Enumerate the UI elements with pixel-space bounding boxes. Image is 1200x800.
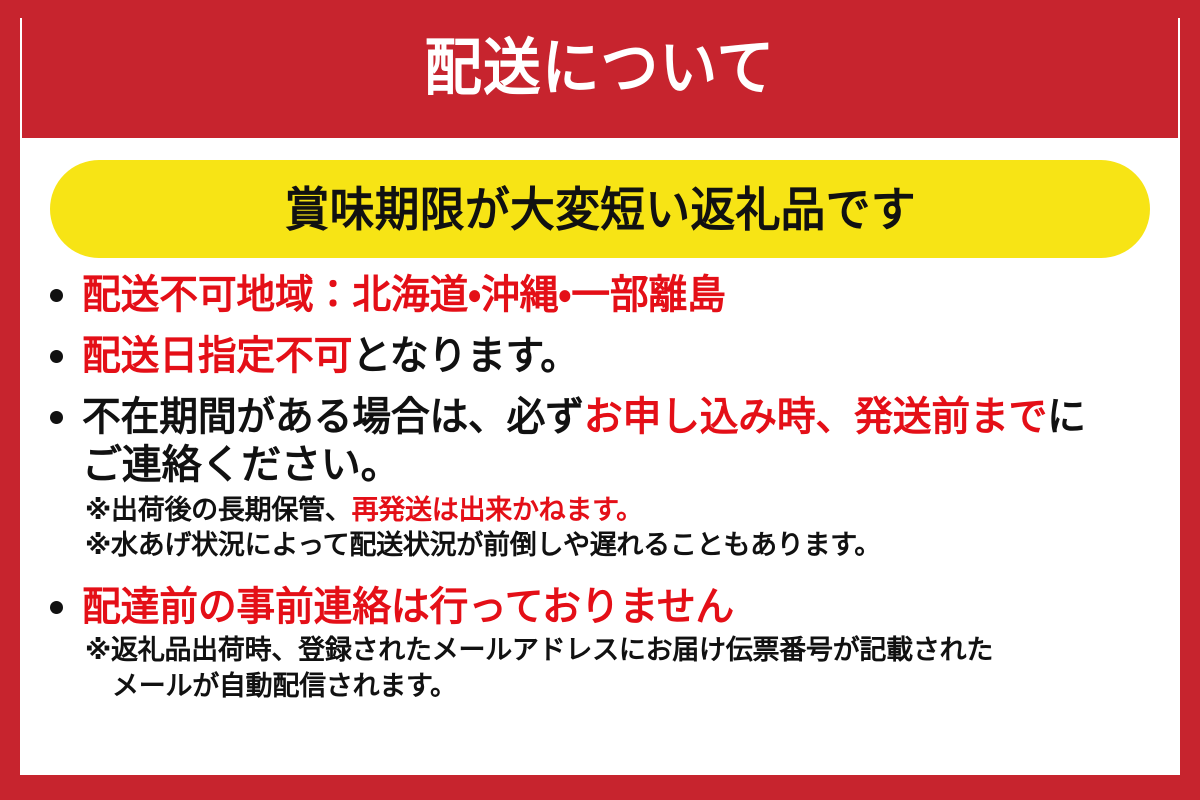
list-item: 配送日指定不可となります。 bbox=[38, 333, 1162, 380]
notice-plain-text: ご連絡ください。 bbox=[82, 443, 400, 487]
bullet-dot-icon bbox=[50, 411, 63, 424]
notice-text-absence-period-contact: 不在期間がある場合は、必ずお申し込み時、発送前までに bbox=[82, 394, 1130, 441]
notice-plain-text-lead: 不在期間がある場合は、必ず bbox=[82, 395, 584, 439]
subnote: ※返礼品出荷時、登録されたメールアドレスにお届け伝票番号が記載された bbox=[85, 633, 1162, 669]
list-item: 配達前の事前連絡は行っておりません ※返礼品出荷時、登録されたメールアドレスにお… bbox=[38, 584, 1162, 704]
notice-text-no-advance-notice: 配達前の事前連絡は行っておりません bbox=[82, 584, 1130, 631]
notice-text-no-date-designation: 配送日指定不可となります。 bbox=[82, 333, 1130, 380]
subnote-plain-text: メールが自動配信されます。 bbox=[112, 671, 457, 701]
spacer bbox=[38, 566, 1162, 584]
list-item: 不在期間がある場合は、必ずお申し込み時、発送前までに ご連絡ください。 ※出荷後… bbox=[38, 394, 1162, 564]
subnote: ※水あげ状況によって配送状況が前倒しや遅れることもあります。 bbox=[85, 528, 1162, 564]
header-rule-right bbox=[1178, 18, 1180, 138]
notice-plain-text-tail: に bbox=[1047, 395, 1086, 439]
notice-plain-text: となります。 bbox=[352, 334, 579, 378]
subnote: ※出荷後の長期保管、再発送は出来かねます。 bbox=[85, 493, 1162, 529]
notice-list: 配送不可地域：北海道・沖縄・一部離島 配送日指定不可となります。 不在期間がある… bbox=[20, 258, 1180, 704]
subnote-emphasis-red: 再発送は出来かねます。 bbox=[352, 495, 643, 525]
subnote-plain-text: ※水あげ状況によって配送状況が前倒しや遅れることもあります。 bbox=[85, 530, 881, 560]
subnote-plain-text: ※返礼品出荷時、登録されたメールアドレスにお届け伝票番号が記載された bbox=[85, 635, 993, 665]
subnote: メールが自動配信されます。 bbox=[85, 669, 1162, 705]
notice-text-absence-period-contact-line2: ご連絡ください。 bbox=[82, 442, 1162, 489]
notice-emphasis-red: 配送日指定不可 bbox=[82, 334, 352, 378]
notice-emphasis-red: お申し込み時、発送前まで bbox=[584, 395, 1047, 439]
notice-emphasis-red: 配達前の事前連絡は行っておりません bbox=[82, 585, 734, 629]
notice-text-no-delivery-areas: 配送不可地域：北海道・沖縄・一部離島 bbox=[82, 272, 1130, 319]
highlight-pill: 賞味期限が大変短い返礼品です bbox=[50, 160, 1150, 258]
bullet-dot-icon bbox=[50, 350, 63, 363]
list-item: 配送不可地域：北海道・沖縄・一部離島 bbox=[38, 272, 1162, 319]
bullet-dot-icon bbox=[50, 289, 63, 302]
notice-subnotes: ※返礼品出荷時、登録されたメールアドレスにお届け伝票番号が記載された メールが自… bbox=[82, 633, 1162, 704]
spacer bbox=[38, 321, 1162, 333]
page-title: 配送について bbox=[424, 38, 775, 100]
notice-subnotes: ※出荷後の長期保管、再発送は出来かねます。 ※水あげ状況によって配送状況が前倒し… bbox=[82, 493, 1162, 564]
content-sheet: 賞味期限が大変短い返礼品です 配送不可地域：北海道・沖縄・一部離島 配送日指定不… bbox=[20, 138, 1180, 775]
spacer bbox=[38, 382, 1162, 394]
highlight-pill-label: 賞味期限が大変短い返礼品です bbox=[284, 186, 915, 233]
shipping-info-banner: 配送について 賞味期限が大変短い返礼品です 配送不可地域：北海道・沖縄・一部離島… bbox=[0, 0, 1200, 800]
bullet-dot-icon bbox=[50, 601, 63, 614]
notice-emphasis-red: 配送不可地域：北海道・沖縄・一部離島 bbox=[82, 273, 726, 317]
header-rule-left bbox=[20, 18, 22, 138]
banner-header: 配送について bbox=[0, 0, 1200, 138]
subnote-plain-text: ※出荷後の長期保管、 bbox=[85, 495, 352, 525]
